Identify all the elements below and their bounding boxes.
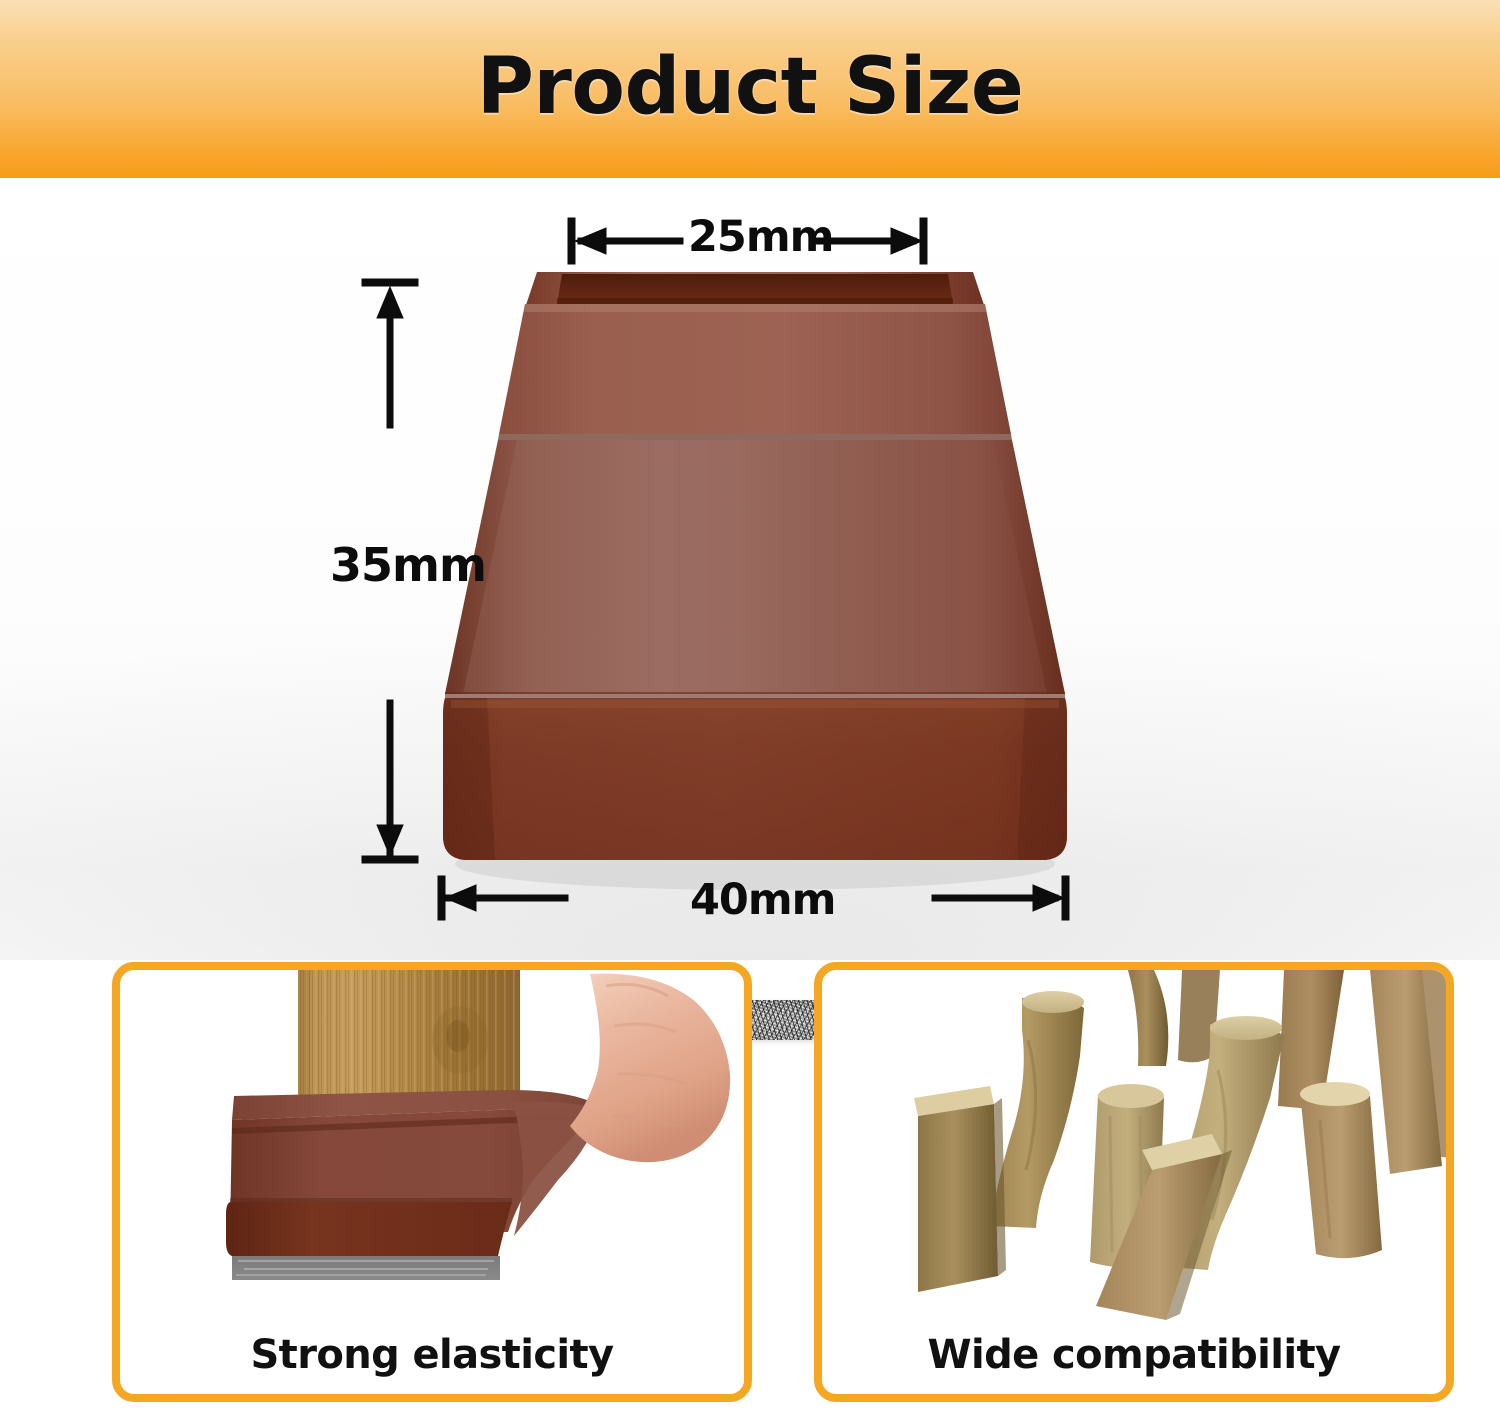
wooden-leg	[298, 970, 520, 1100]
wood-leg-square-left	[914, 1086, 1006, 1292]
dimension-label-height: 35mm	[330, 538, 486, 592]
wood-leg-rear-2	[1128, 970, 1168, 1066]
finger	[570, 974, 730, 1163]
wide-compatibility-illustration	[822, 970, 1446, 1330]
panel-caption-strong-elasticity: Strong elasticity	[120, 1332, 744, 1378]
product-size-infographic: Product Size	[0, 0, 1500, 1427]
dimension-label-top-width: 25mm	[688, 212, 833, 262]
product-stage	[0, 178, 1500, 960]
header-banner: Product Size	[0, 0, 1500, 178]
strong-elasticity-illustration	[120, 970, 744, 1330]
product-image-leg-cap	[425, 264, 1085, 929]
panel-caption-wide-compatibility: Wide compatibility	[822, 1332, 1446, 1378]
page-title: Product Size	[0, 42, 1500, 132]
dimension-label-bottom-width: 40mm	[690, 875, 835, 925]
feature-panel-strong-elasticity: Strong elasticity	[112, 962, 752, 1402]
leg-cap-illustration	[425, 264, 1085, 929]
wood-leg-tapered-right	[1300, 1082, 1382, 1258]
feature-panel-wide-compatibility: Wide compatibility	[814, 962, 1454, 1402]
cap-base-band	[226, 1202, 512, 1256]
